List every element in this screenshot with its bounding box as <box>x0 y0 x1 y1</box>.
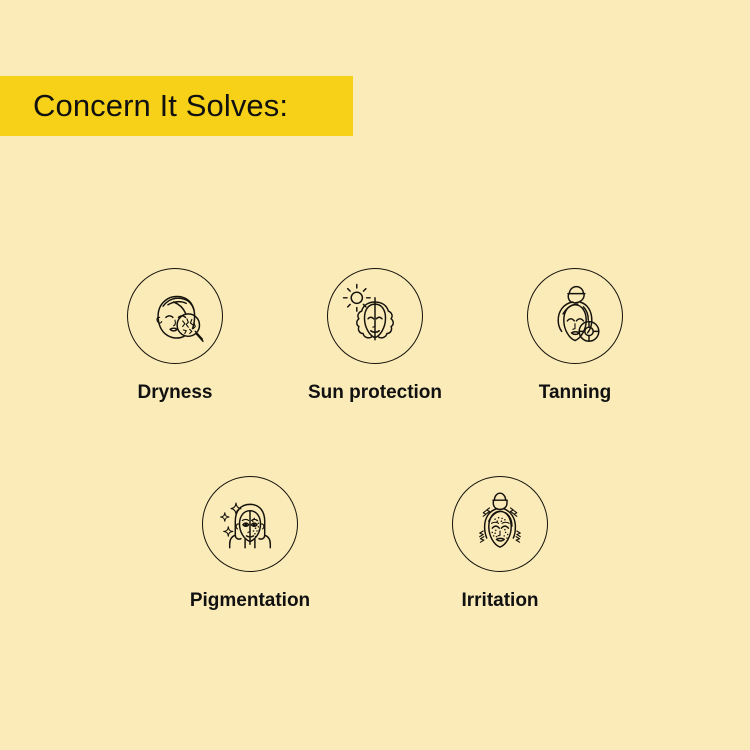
concern-item-dryness[interactable]: Dryness <box>75 268 275 404</box>
icon-circle-dryness <box>127 268 223 364</box>
concern-row-1: Dryness <box>0 268 750 404</box>
icon-circle-tanning <box>527 268 623 364</box>
concern-item-sun-protection[interactable]: Sun protection <box>275 268 475 404</box>
concern-label-sun-protection: Sun protection <box>308 382 442 404</box>
icon-circle-irritation <box>452 476 548 572</box>
face-sun-split-icon <box>340 281 410 351</box>
icon-circle-pigmentation <box>202 476 298 572</box>
concern-label-tanning: Tanning <box>539 382 611 404</box>
concern-label-pigmentation: Pigmentation <box>190 590 310 612</box>
concern-item-tanning[interactable]: Tanning <box>475 268 675 404</box>
face-bun-sun-target-icon <box>540 281 610 351</box>
concern-row-2: Pigmentation <box>0 476 750 612</box>
concern-label-irritation: Irritation <box>461 590 538 612</box>
concern-item-irritation[interactable]: Irritation <box>375 476 625 612</box>
face-magnifier-dry-skin-icon <box>140 281 210 351</box>
concern-it-solves-panel: Concern It Solves: <box>0 0 750 750</box>
page-title: Concern It Solves: <box>33 88 288 124</box>
face-split-spots-sparkles-icon <box>215 489 285 559</box>
section-title-banner: Concern It Solves: <box>0 76 353 136</box>
concern-label-dryness: Dryness <box>138 382 213 404</box>
concern-item-pigmentation[interactable]: Pigmentation <box>125 476 375 612</box>
face-bun-spots-zigzag-icon <box>465 489 535 559</box>
icon-circle-sun-protection <box>327 268 423 364</box>
